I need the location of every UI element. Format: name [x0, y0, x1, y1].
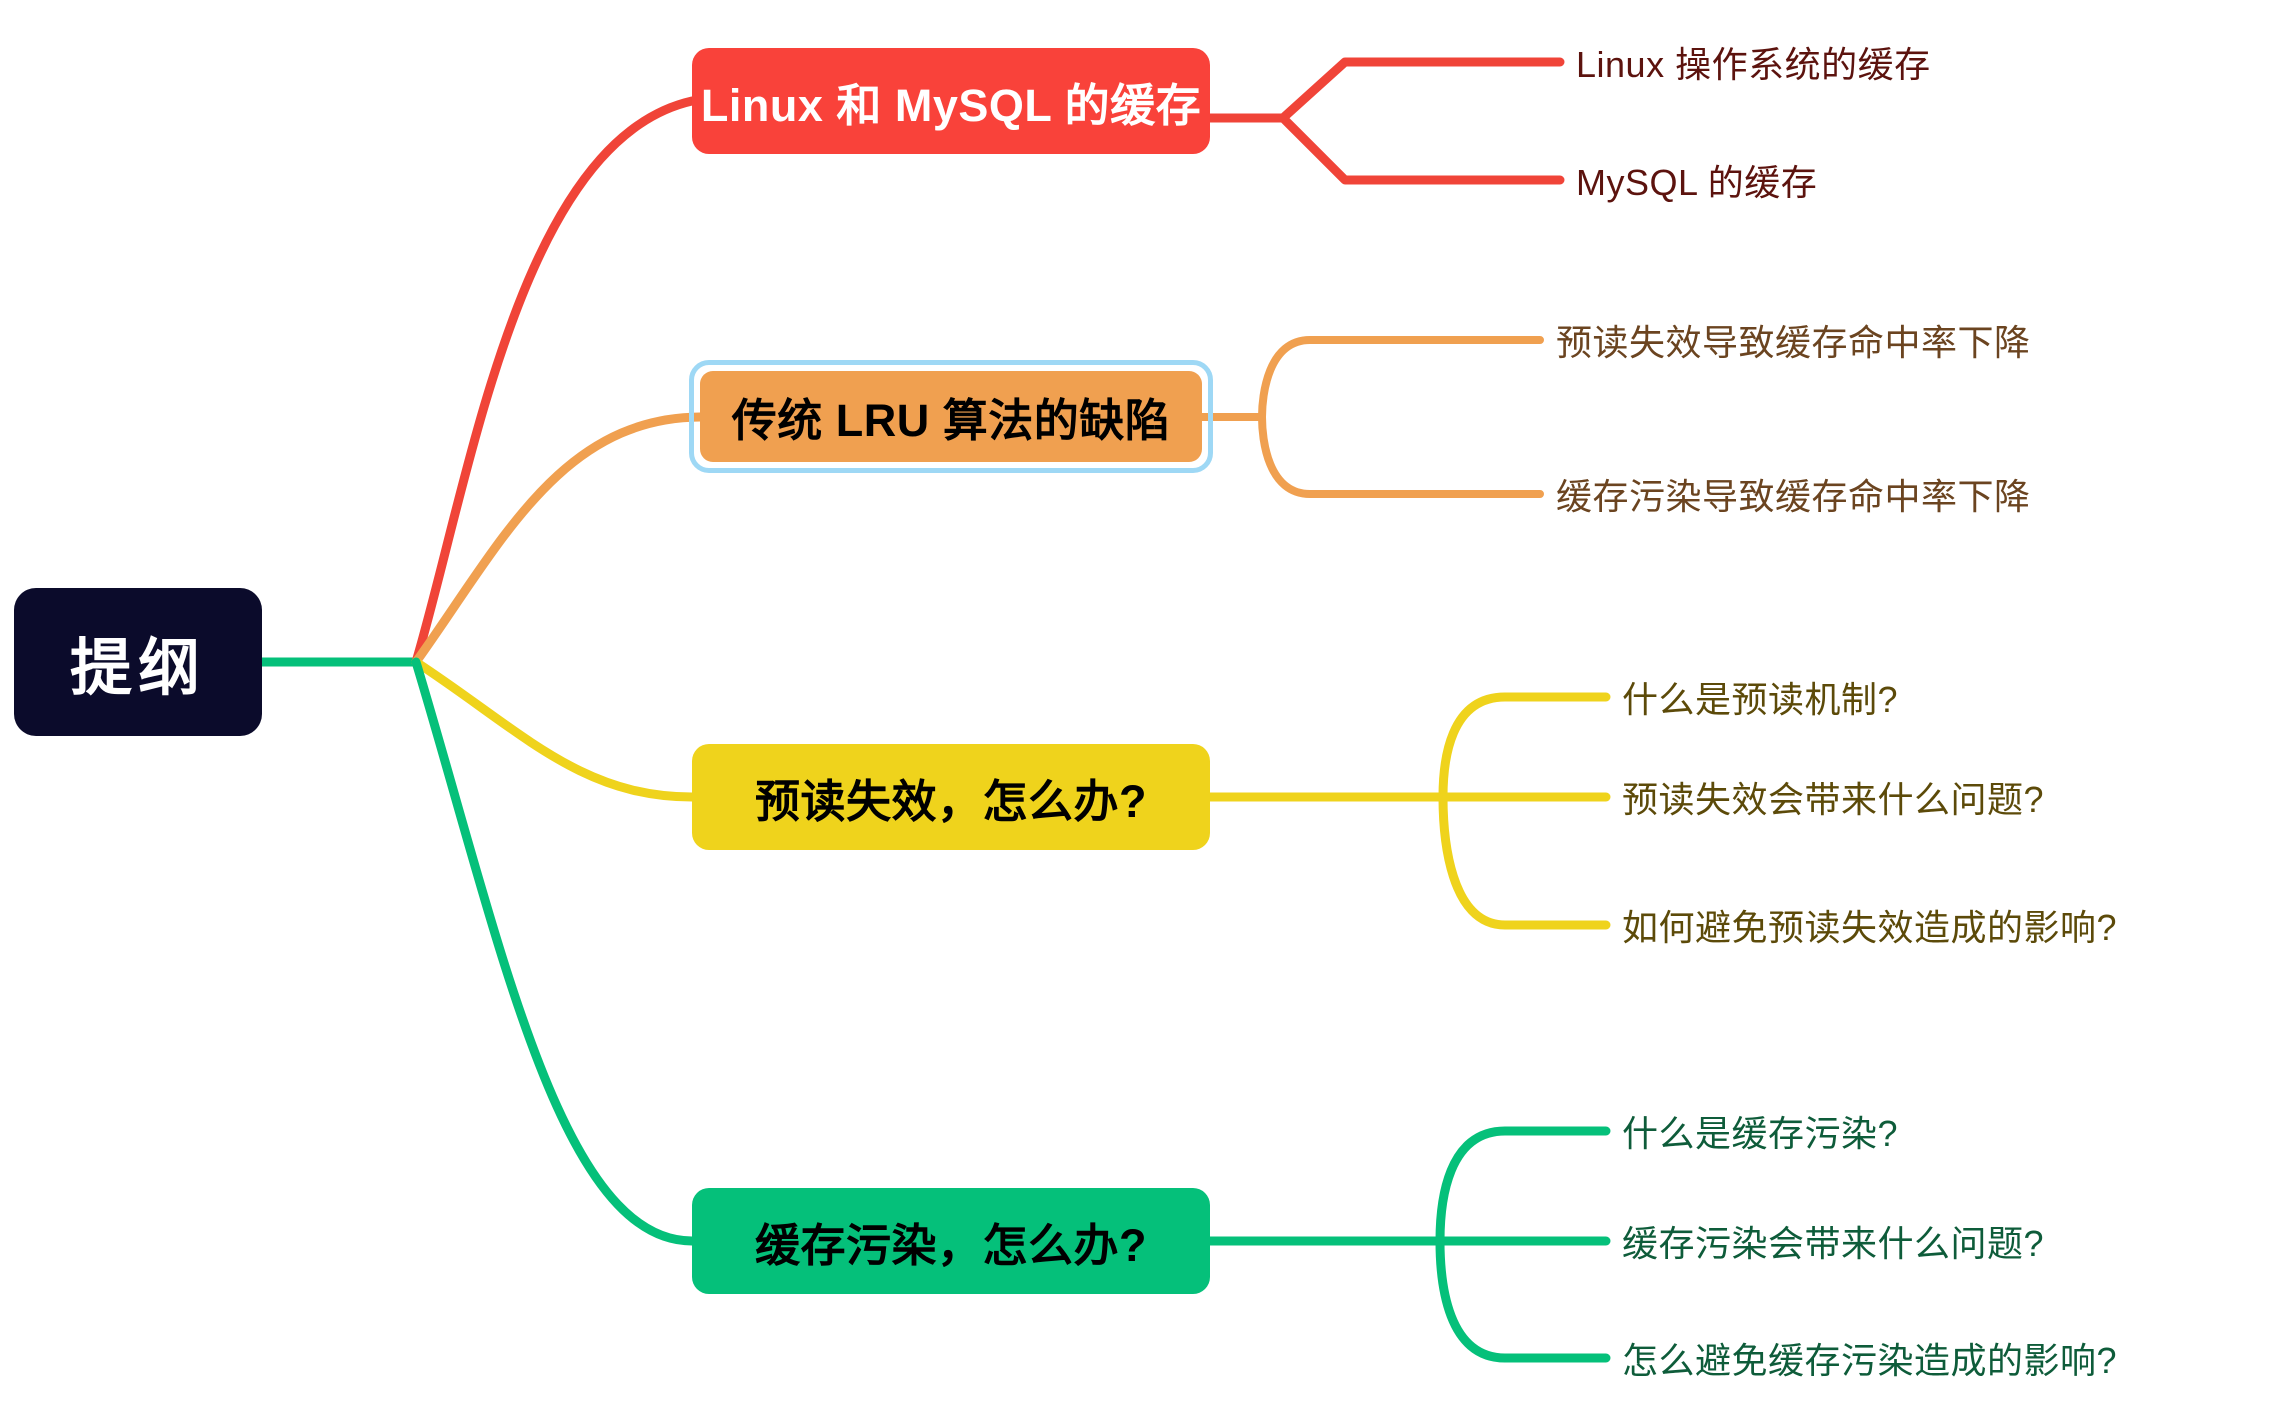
leaf-node-what-is-readahead[interactable]: 什么是预读机制? — [1622, 671, 1898, 723]
trunk-line-red — [416, 101, 692, 662]
leaf-node-avoid-pollution-impact[interactable]: 怎么避免缓存污染造成的影响? — [1622, 1332, 2117, 1384]
branch-node-readahead-failure[interactable]: 预读失效，怎么办? — [692, 744, 1210, 850]
leaf-connector-red-1 — [1283, 118, 1560, 180]
leaf-connector-yellow-2 — [1443, 797, 1606, 925]
trunk-line-green — [416, 662, 692, 1241]
branch-node-cache-pollution[interactable]: 缓存污染，怎么办? — [692, 1188, 1210, 1294]
leaf-connector-orange-1 — [1262, 417, 1540, 494]
leaf-node-readahead-miss-hitrate[interactable]: 预读失效导致缓存命中率下降 — [1556, 314, 2031, 366]
leaf-node-mysql-cache[interactable]: MySQL 的缓存 — [1576, 154, 1817, 206]
branch-node-lru-defects[interactable]: 传统 LRU 算法的缺陷 — [700, 371, 1202, 462]
leaf-node-pollution-problems[interactable]: 缓存污染会带来什么问题? — [1622, 1215, 2044, 1267]
leaf-node-what-is-pollution[interactable]: 什么是缓存污染? — [1622, 1105, 1898, 1157]
leaf-connector-green-2 — [1440, 1241, 1606, 1358]
leaf-connector-yellow-0 — [1443, 697, 1606, 797]
mindmap-root-node[interactable]: 提纲 — [14, 588, 262, 736]
leaf-node-pollution-hitrate[interactable]: 缓存污染导致缓存命中率下降 — [1556, 468, 2031, 520]
branch-node-linux-mysql-cache[interactable]: Linux 和 MySQL 的缓存 — [692, 48, 1210, 154]
trunk-line-orange — [416, 417, 700, 662]
leaf-connector-green-0 — [1440, 1131, 1606, 1241]
trunk-line-yellow — [416, 662, 692, 797]
leaf-node-readahead-problems[interactable]: 预读失效会带来什么问题? — [1622, 771, 2044, 823]
leaf-connector-orange-0 — [1262, 340, 1540, 417]
leaf-node-linux-os-cache[interactable]: Linux 操作系统的缓存 — [1576, 36, 1931, 88]
mindmap-canvas: 提纲 Linux 和 MySQL 的缓存 传统 LRU 算法的缺陷 预读失效，怎… — [0, 0, 2278, 1414]
leaf-connector-red-0 — [1283, 62, 1560, 118]
leaf-node-avoid-readahead-impact[interactable]: 如何避免预读失效造成的影响? — [1622, 899, 2117, 951]
